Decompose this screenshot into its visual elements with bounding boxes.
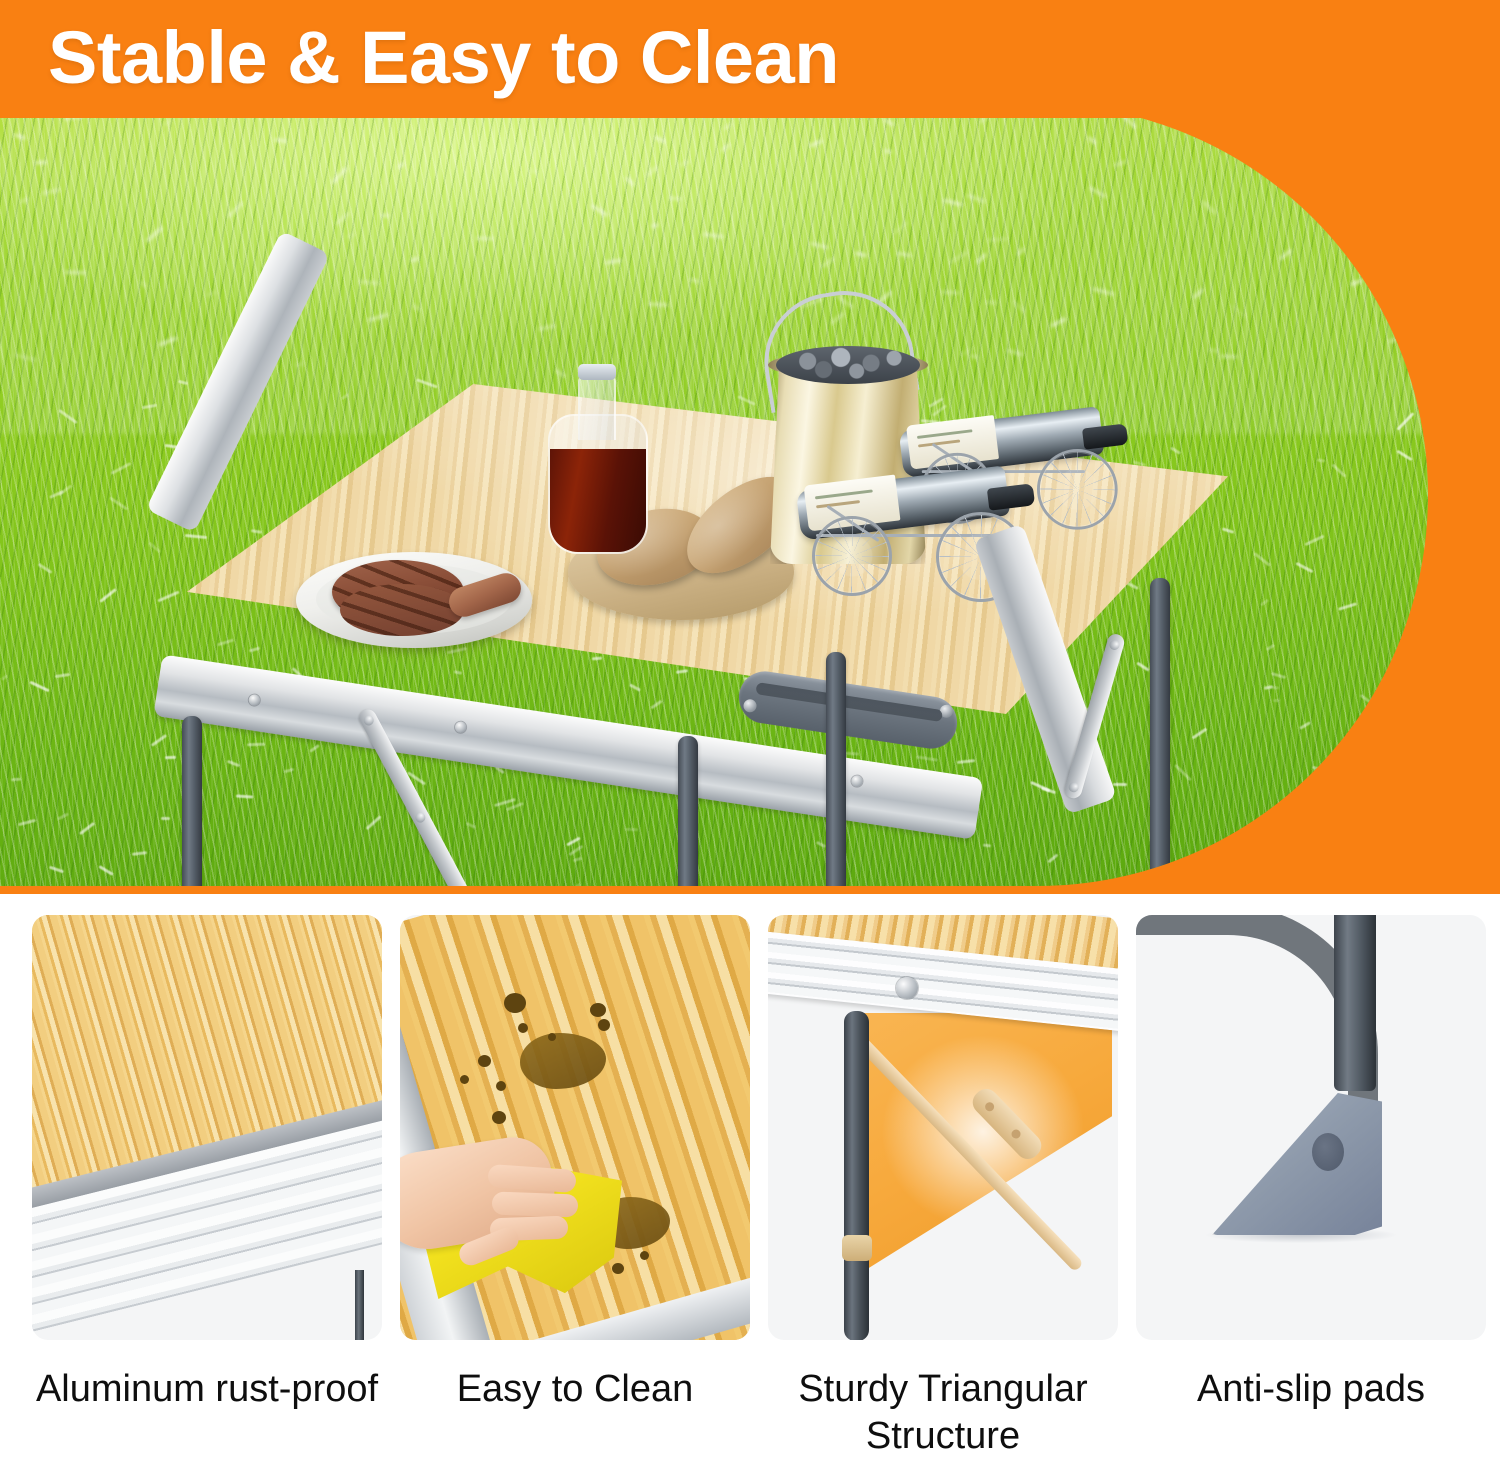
- brace-foot-bracket: [842, 1235, 872, 1261]
- rim-screw: [454, 721, 467, 734]
- finger: [492, 1192, 579, 1218]
- brace-pin: [1068, 781, 1080, 793]
- feature-card-anti-slip-pads[interactable]: Anti-slip pads: [1136, 915, 1486, 1413]
- rim-screw: [851, 775, 864, 788]
- spill-droplet: [518, 1023, 528, 1033]
- feature-card-easy-to-clean[interactable]: Easy to Clean: [400, 915, 750, 1413]
- bottle-liquid: [550, 449, 646, 552]
- spill-droplet: [478, 1055, 491, 1067]
- spill-droplet: [492, 1111, 506, 1124]
- feature-label: Easy to Clean: [400, 1366, 750, 1413]
- header-banner: Stable & Easy to Clean: [0, 0, 1500, 118]
- rim-screw: [248, 694, 261, 707]
- spill-droplet: [598, 1019, 610, 1031]
- page-title: Stable & Easy to Clean: [48, 8, 839, 108]
- spill-droplet: [460, 1075, 469, 1084]
- spill-droplet: [504, 993, 526, 1013]
- handle-screw: [939, 704, 954, 719]
- spill-droplet: [496, 1081, 506, 1091]
- holder-wheel-right: [1037, 449, 1118, 530]
- brace-pin: [414, 811, 428, 825]
- leg-tube-vertical: [1334, 915, 1376, 1091]
- feature-label: Anti-slip pads: [1136, 1366, 1486, 1413]
- hero-image: [0, 104, 1428, 886]
- hero-section: [0, 104, 1500, 894]
- feature-card-sturdy-triangular-structure[interactable]: Sturdy Triangular Structure: [768, 915, 1118, 1460]
- feature-image-anti-slip-pads: [1136, 915, 1486, 1340]
- bottle-neck: [578, 374, 616, 440]
- table-leg-rear-right: [826, 652, 846, 886]
- folding-table: [118, 384, 1228, 886]
- spill-droplet: [640, 1251, 649, 1260]
- spill-droplet: [548, 1033, 556, 1041]
- wine-bottle-neck: [1082, 423, 1128, 449]
- table-leg: [844, 1011, 869, 1340]
- feature-label: Aluminum rust-proof: [32, 1366, 382, 1413]
- ice-cubes: [776, 346, 920, 384]
- glass-bottle: [548, 364, 648, 554]
- feature-image-aluminum-rust-proof: [32, 915, 382, 1340]
- feature-image-easy-to-clean: [400, 915, 750, 1340]
- table-leg-front-left: [182, 716, 202, 886]
- feature-thumbnail-row: Aluminum rust-proof: [0, 915, 1500, 1450]
- wine-bottle-neck: [987, 483, 1035, 510]
- spill-droplet: [590, 1003, 606, 1017]
- bottle-cap: [578, 364, 616, 380]
- handle-screw: [743, 698, 758, 713]
- feature-label: Sturdy Triangular Structure: [768, 1366, 1118, 1460]
- burger-patty-lower: [340, 584, 464, 636]
- spill-droplet: [612, 1263, 624, 1274]
- holder-wheel-left: [812, 516, 892, 596]
- feature-image-sturdy-triangular-structure: [768, 915, 1118, 1340]
- table-leg-rear-left: [1150, 578, 1170, 886]
- triangular-brace-highlight: [864, 1013, 1112, 1271]
- feature-card-aluminum-rust-proof[interactable]: Aluminum rust-proof: [32, 915, 382, 1413]
- table-leg: [355, 1270, 364, 1340]
- brace-pin: [362, 714, 376, 728]
- foot-pad-hole: [1312, 1133, 1344, 1171]
- frame-screw: [896, 977, 918, 999]
- brace-pin: [1108, 639, 1120, 651]
- table-leg-front-right: [678, 736, 698, 886]
